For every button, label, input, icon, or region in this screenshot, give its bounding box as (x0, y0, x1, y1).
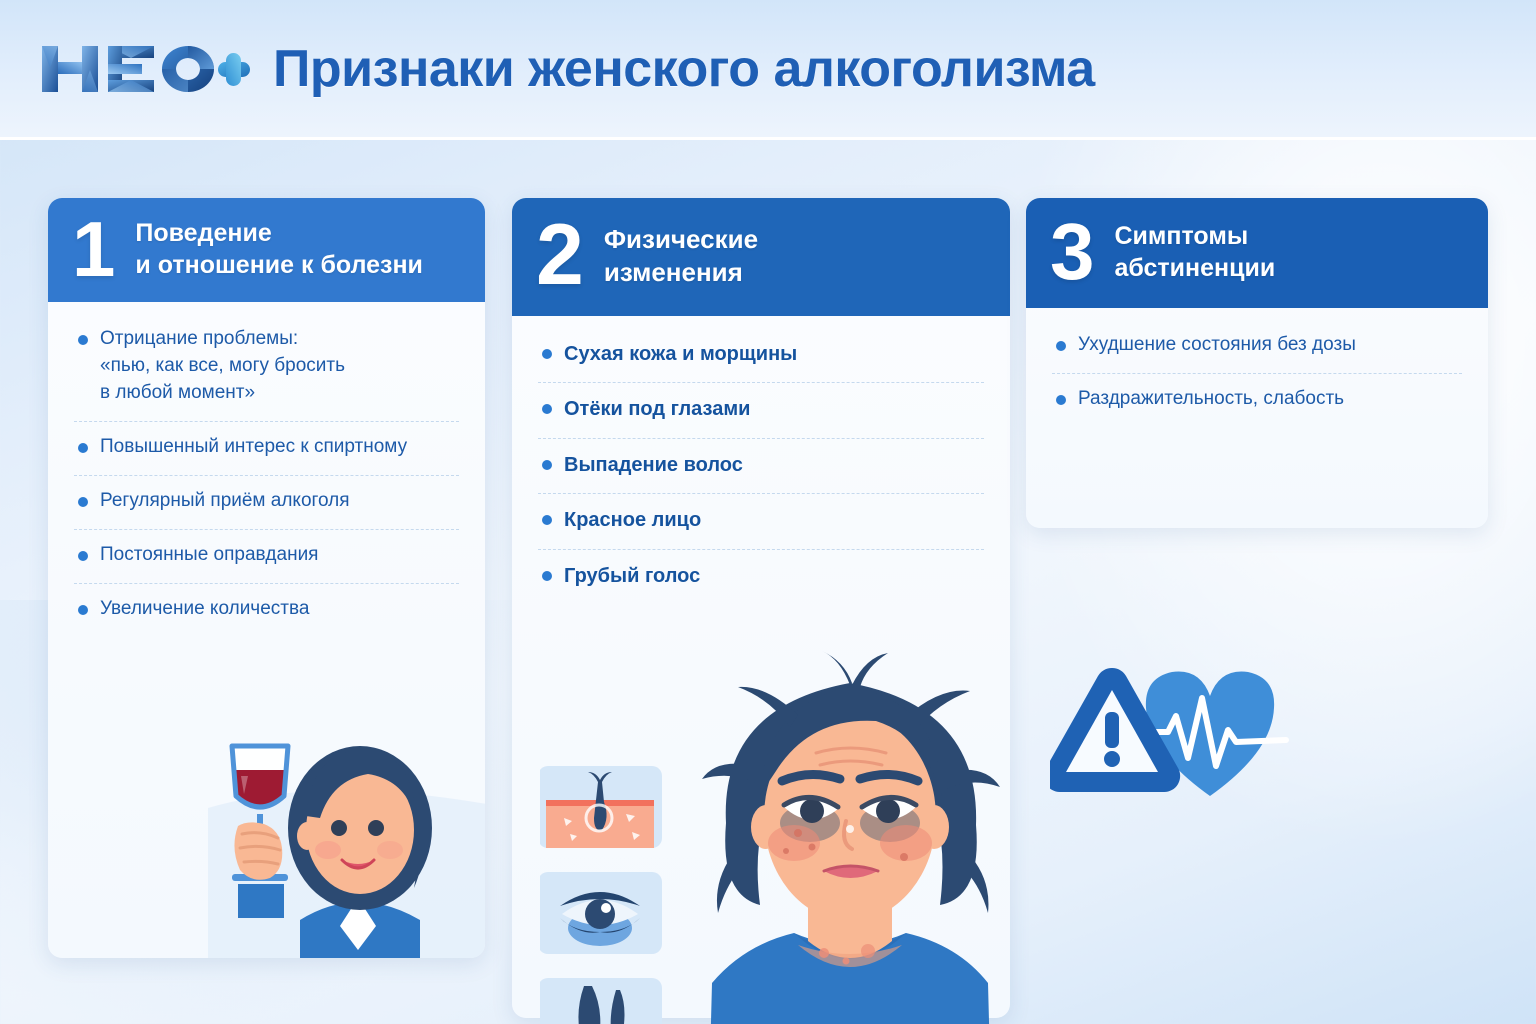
card-title-1: Поведение и отношение к болезни (135, 217, 423, 281)
card-3-list: Ухудшение состояния без дозы Раздражител… (1026, 308, 1488, 427)
warning-triangle-icon (1050, 668, 1180, 792)
card-behavior: 1 Поведение и отношение к болезни Отрица… (48, 198, 485, 958)
neo-plus-logo (36, 38, 251, 100)
card-header-3: 3 Симптомы абстиненции (1026, 198, 1488, 308)
card-title-2: Физические изменения (604, 223, 758, 290)
list-item-label: Ухудшение состояния без дозы (1078, 332, 1462, 359)
card-number-2: 2 (536, 222, 584, 289)
list-item-line2: «пью, как все, могу бросить (100, 353, 459, 380)
card-physical-changes: 2 Физические изменения Сухая кожа и морщ… (512, 198, 1010, 1018)
card-title-3-line1: Симптомы (1115, 220, 1276, 252)
card-title-1-line2: и отношение к болезни (135, 249, 423, 281)
card-withdrawal-symptoms: 3 Симптомы абстиненции Ухудшение состоян… (1026, 198, 1488, 528)
heartbeat-heart-icon (1140, 672, 1286, 797)
page-header: Признаки женского алкоголизма (0, 0, 1536, 140)
list-item: Красное лицо (538, 506, 984, 549)
list-item: Грубый голос (538, 562, 984, 604)
list-item: Ухудшение состояния без дозы (1052, 332, 1462, 374)
card-header-2: 2 Физические изменения (512, 198, 1010, 316)
card-title-3-line2: абстиненции (1115, 252, 1276, 284)
list-item-label: Красное лицо (564, 506, 984, 534)
woman-with-wine-glass-illustration (208, 688, 485, 958)
list-item-label: Повышенный интерес к спиртному (100, 434, 459, 461)
list-item-line1: Отрицание проблемы: (100, 328, 298, 349)
card-number-3: 3 (1050, 221, 1095, 283)
list-item-label: Отрицание проблемы: «пью, как все, могу … (100, 326, 459, 407)
list-item: Раздражительность, слабость (1052, 386, 1462, 427)
list-item-label: Сухая кожа и морщины (564, 340, 984, 368)
card-title-2-line2: изменения (604, 256, 758, 289)
list-item-label: Выпадение волос (564, 451, 984, 479)
list-item: Повышенный интерес к спиртному (74, 434, 459, 476)
list-item: Отрицание проблемы: «пью, как все, могу … (74, 326, 459, 422)
list-item-label: Отёки под глазами (564, 395, 984, 423)
card-title-1-line1: Поведение (135, 217, 423, 249)
list-item-line3: в любой момент» (100, 380, 459, 407)
list-item: Постоянные оправдания (74, 542, 459, 584)
card-title-3: Симптомы абстиненции (1115, 220, 1276, 284)
card-title-2-line1: Физические (604, 223, 758, 256)
card-2-list: Сухая кожа и морщины Отёки под глазами В… (512, 316, 1010, 604)
list-item: Увеличение количества (74, 596, 459, 637)
list-item-label: Грубый голос (564, 562, 984, 590)
card-number-1: 1 (72, 219, 115, 280)
list-item: Отёки под глазами (538, 395, 984, 438)
cards-board: 1 Поведение и отношение к болезни Отрица… (0, 140, 1536, 1024)
list-item-label: Регулярный приём алкоголя (100, 488, 459, 515)
warning-and-heart-illustration (1050, 660, 1320, 810)
card-1-list: Отрицание проблемы: «пью, как все, могу … (48, 302, 485, 637)
list-item-label: Раздражительность, слабость (1078, 386, 1462, 413)
list-item: Сухая кожа и морщины (538, 340, 984, 383)
card-header-1: 1 Поведение и отношение к болезни (48, 198, 485, 302)
list-item: Регулярный приём алкоголя (74, 488, 459, 530)
list-item: Выпадение волос (538, 451, 984, 494)
list-item-label: Увеличение количества (100, 596, 459, 623)
list-item-label: Постоянные оправдания (100, 542, 459, 569)
page-title: Признаки женского алкоголизма (273, 39, 1095, 99)
